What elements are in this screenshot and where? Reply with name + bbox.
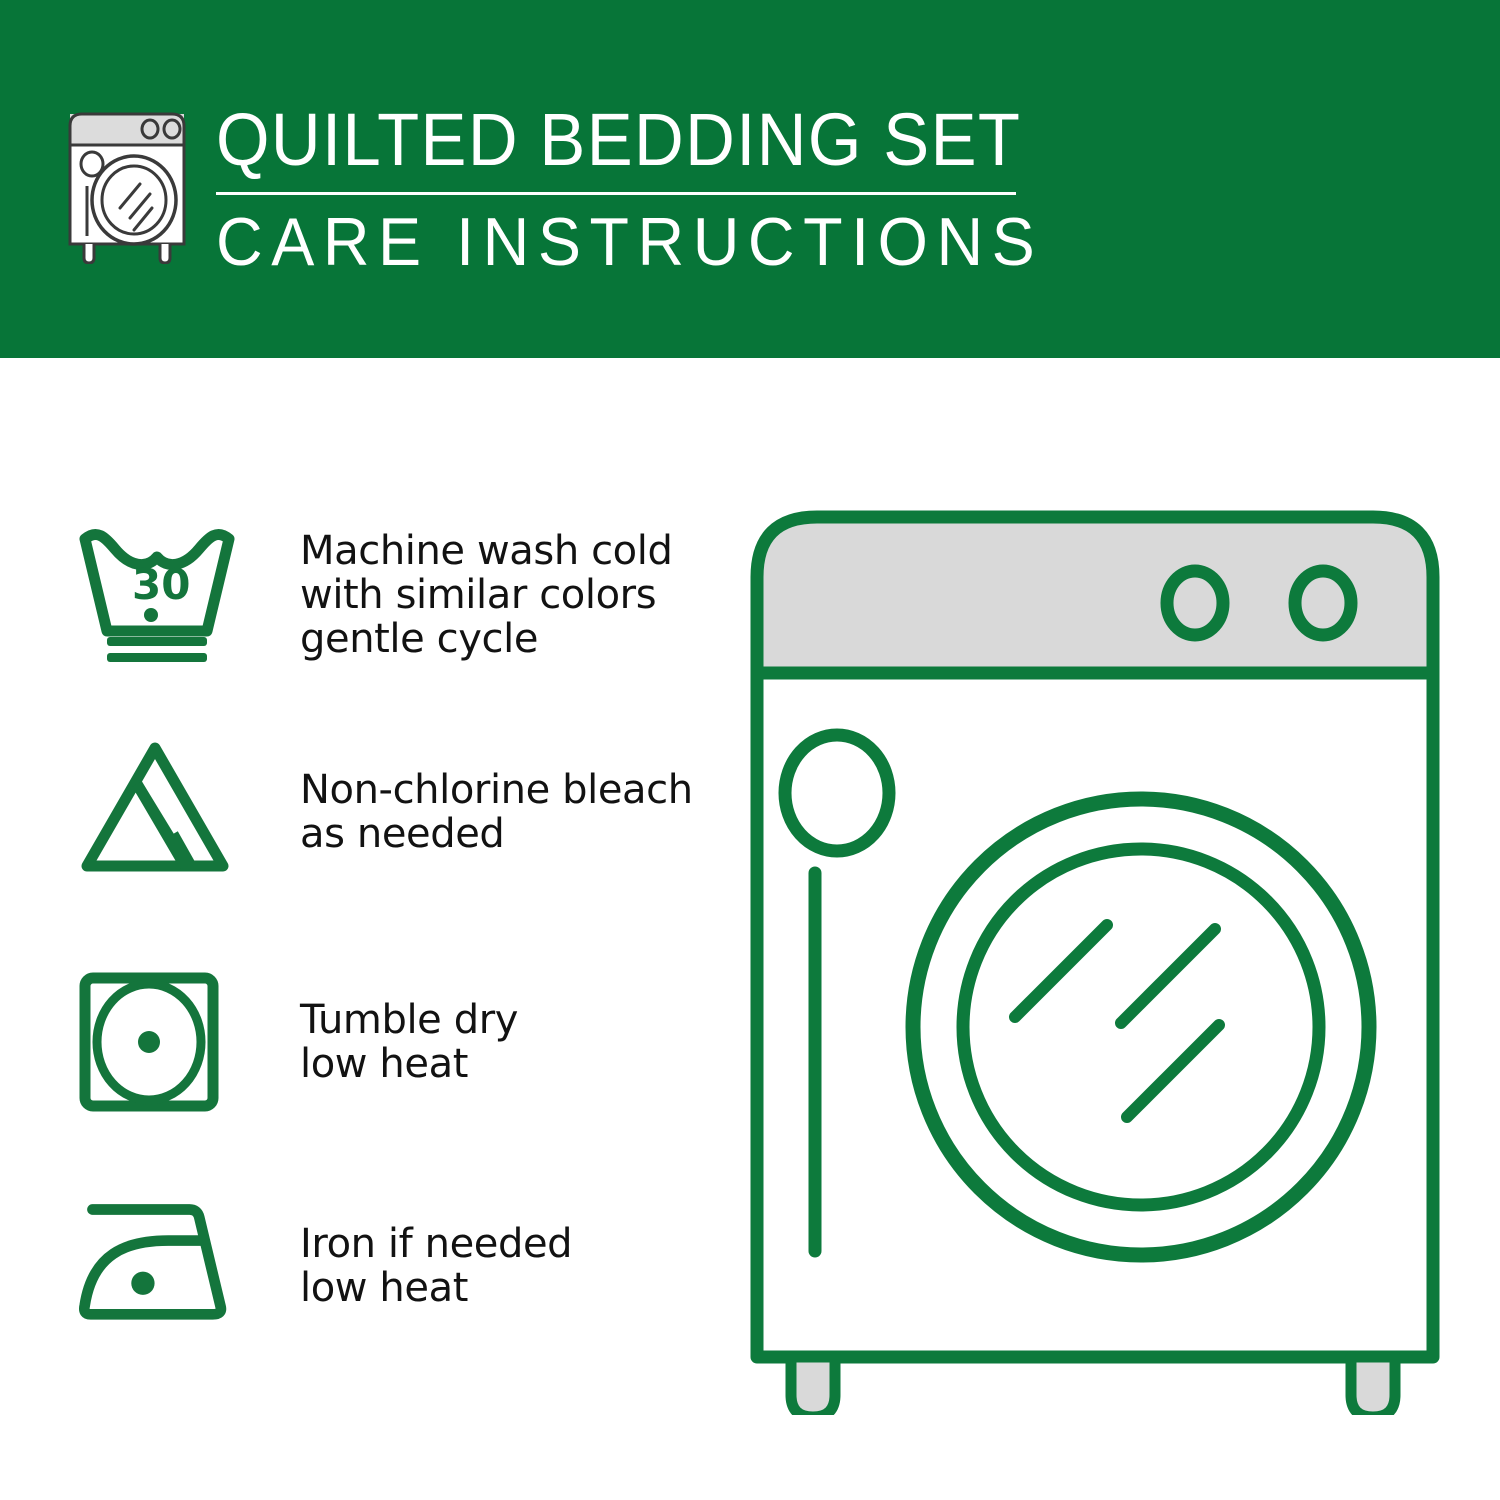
foot-right bbox=[1351, 1357, 1395, 1415]
door-outer-ring bbox=[913, 799, 1369, 1255]
gentle-bar-2 bbox=[107, 653, 207, 662]
care-instruction-text: Tumble dry low heat bbox=[300, 970, 518, 1086]
care-instruction-text: Iron if needed low heat bbox=[300, 1196, 572, 1310]
care-row: Iron if needed low heat bbox=[75, 1196, 572, 1321]
page-title: QUILTED BEDDING SET bbox=[216, 100, 1026, 180]
care-symbol-slot bbox=[75, 970, 240, 1115]
header-title-group: QUILTED BEDDING SET CARE INSTRUCTIONS bbox=[216, 96, 1087, 279]
control-panel bbox=[757, 517, 1433, 673]
care-row: 30 Machine wash cold with similar colors… bbox=[75, 523, 672, 663]
door-swirl-lines bbox=[1015, 925, 1219, 1117]
gentle-bar-1 bbox=[107, 637, 207, 646]
wash-temp-label: 30 bbox=[132, 560, 190, 609]
tumble-dry-low-heat-icon bbox=[75, 970, 240, 1115]
care-symbol-slot: 30 bbox=[75, 523, 240, 663]
front-load-washing-machine-illustration bbox=[745, 505, 1445, 1415]
non-chlorine-bleach-triangle-icon bbox=[75, 736, 240, 881]
care-instruction-text: Machine wash cold with similar colors ge… bbox=[300, 523, 672, 661]
detergent-dispenser bbox=[785, 735, 889, 851]
iron-heat-dot bbox=[131, 1272, 154, 1295]
care-instructions-infographic: QUILTED BEDDING SET CARE INSTRUCTIONS 30 bbox=[0, 0, 1500, 1500]
header-content: QUILTED BEDDING SET CARE INSTRUCTIONS bbox=[62, 96, 1087, 279]
door-inner-ring bbox=[963, 849, 1319, 1205]
care-row: Tumble dry low heat bbox=[75, 970, 518, 1115]
care-symbol-slot bbox=[75, 1196, 240, 1321]
care-instruction-text: Non-chlorine bleach as needed bbox=[300, 736, 693, 856]
dry-heat-dot bbox=[138, 1031, 160, 1053]
page-subtitle: CARE INSTRUCTIONS bbox=[216, 205, 1043, 279]
iron-low-heat-icon bbox=[75, 1196, 240, 1321]
care-row: Non-chlorine bleach as needed bbox=[75, 736, 693, 881]
title-divider bbox=[216, 192, 1016, 195]
gentle-dot bbox=[144, 608, 158, 622]
foot-left bbox=[791, 1357, 835, 1415]
washing-machine-icon bbox=[62, 96, 192, 264]
wash-tub-30-gentle-icon: 30 bbox=[75, 523, 240, 663]
care-symbol-slot bbox=[75, 736, 240, 881]
header-banner: QUILTED BEDDING SET CARE INSTRUCTIONS bbox=[0, 0, 1500, 358]
